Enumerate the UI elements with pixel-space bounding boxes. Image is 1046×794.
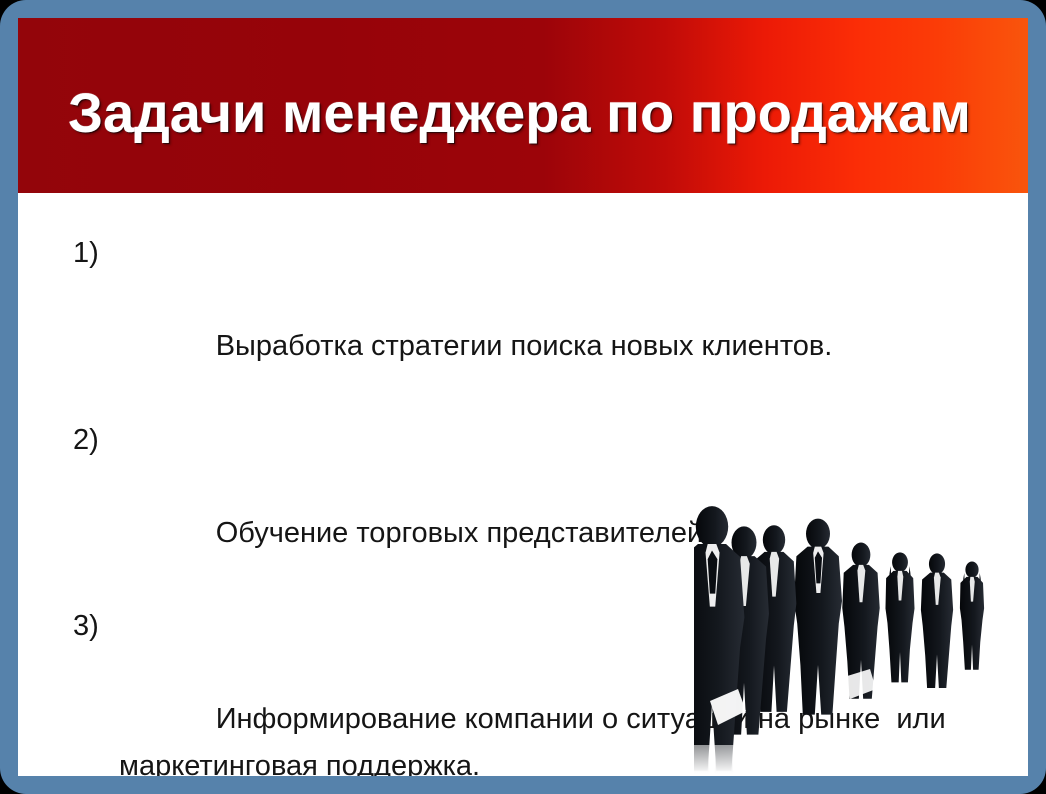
list-item: 3) Информирование компании о ситуации на… <box>73 603 953 776</box>
page-title: Задачи менеджера по продажам <box>68 80 971 145</box>
list-item-text: Выработка стратегии поиска новых клиенто… <box>216 330 833 362</box>
list-item-text: Обучение торговых представителей. <box>216 517 712 549</box>
list-item: 2) Обучение торговых представителей. <box>73 417 953 603</box>
slide-frame: Задачи менеджера по продажам 1) Выработк… <box>0 0 1046 794</box>
slide-canvas: Задачи менеджера по продажам 1) Выработк… <box>18 18 1028 776</box>
slide: Задачи менеджера по продажам 1) Выработк… <box>0 0 1046 794</box>
list-item: 1) Выработка стратегии поиска новых клие… <box>73 230 953 416</box>
list-item-number: 2) <box>73 417 99 464</box>
task-list: 1) Выработка стратегии поиска новых клие… <box>73 230 953 776</box>
slide-body: 1) Выработка стратегии поиска новых клие… <box>18 193 1028 776</box>
slide-header-band: Задачи менеджера по продажам <box>18 18 1028 193</box>
list-item-number: 1) <box>73 230 99 277</box>
list-item-text: Информирование компании о ситуации на ры… <box>119 703 954 776</box>
list-item-number: 3) <box>73 603 99 650</box>
